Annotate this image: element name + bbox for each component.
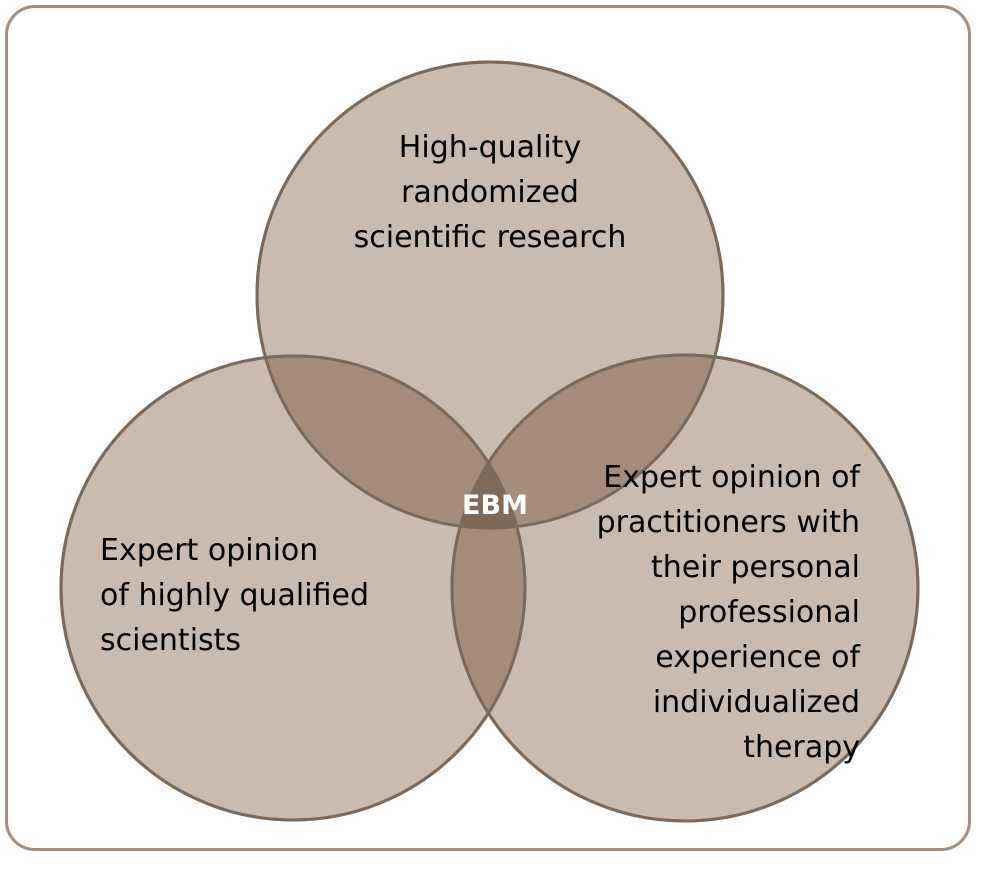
label-top-research: High-quality randomized scientific resea…: [300, 125, 680, 260]
label-left-scientists: Expert opinion of highly qualified scien…: [100, 528, 430, 663]
label-right-practitioners: Expert opinion of practitioners with the…: [540, 455, 860, 770]
label-ebm-intersection: EBM: [415, 490, 575, 522]
diagram-canvas: High-quality randomized scientific resea…: [0, 0, 983, 877]
